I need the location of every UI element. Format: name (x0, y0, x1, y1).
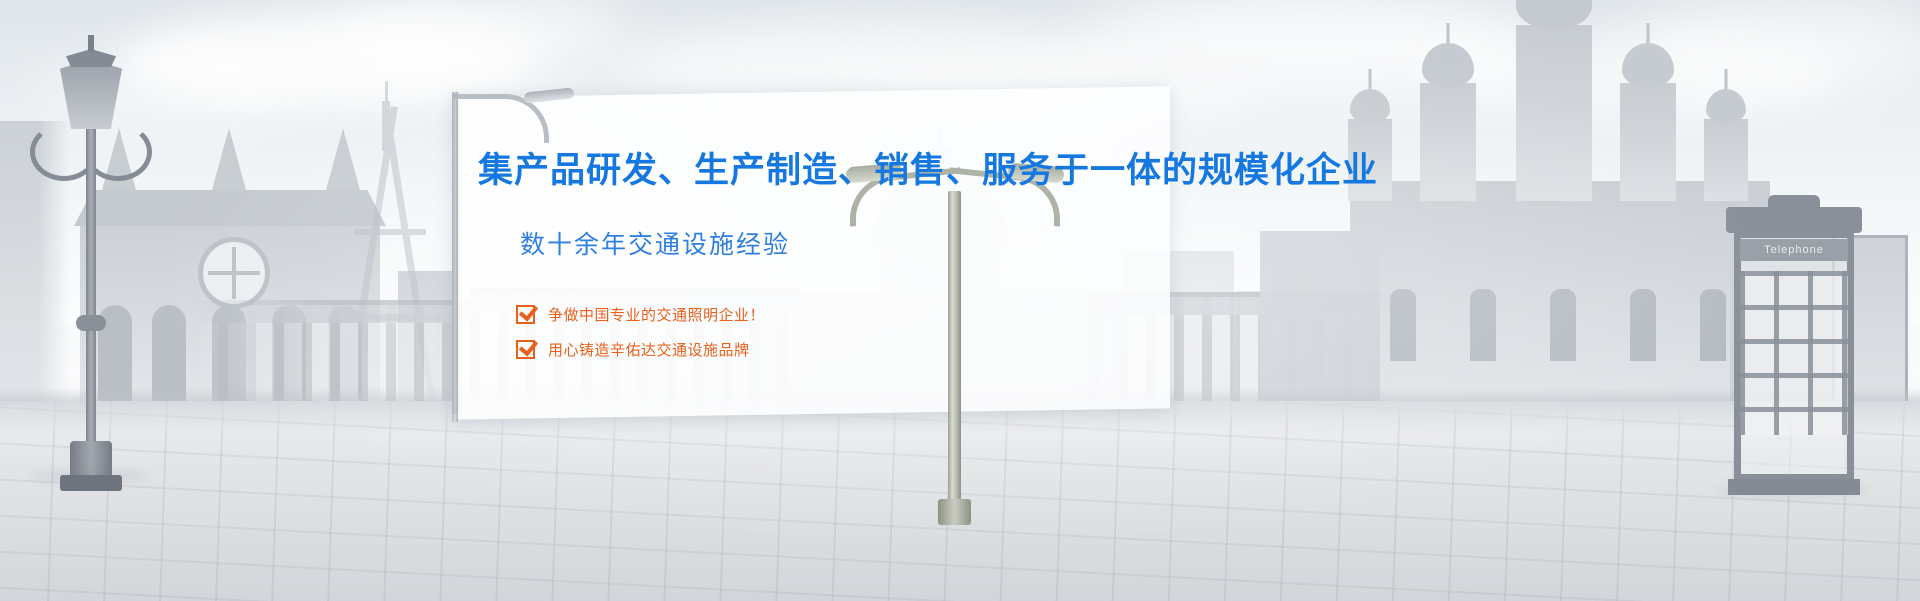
onion-dome (1706, 89, 1746, 123)
telephone-box-sign: Telephone (1740, 239, 1848, 261)
bullet-label: 用心铸造辛佑达交通设施品牌 (548, 339, 750, 360)
tower-deck (354, 229, 426, 235)
onion-dome (1622, 43, 1674, 87)
telephone-box-roof (1726, 207, 1862, 233)
rose-window-icon (198, 237, 270, 309)
banner-copy: 集产品研发、生产制造、销售、服务于一体的规模化企业 数十余年交通设施经验 争做中… (478, 150, 1178, 374)
banner-headline: 集产品研发、生产制造、销售、服务于一体的规模化企业 (478, 150, 1178, 192)
tower-top (382, 101, 390, 151)
lamp-head (60, 59, 122, 129)
orthodox-church (1320, 21, 1790, 401)
bullet-label: 争做中国专业的交通照明企业！ (548, 304, 765, 325)
onion-dome (1422, 43, 1474, 87)
hero-banner: Telephone 集产品 (0, 0, 1920, 601)
tower-tip (385, 81, 388, 107)
cathedral-spire (212, 128, 246, 190)
telephone-box-shadow (1716, 485, 1866, 495)
telephone-box-panes (1740, 271, 1848, 435)
checkbox-checked-icon (516, 305, 535, 324)
church-tower (1704, 119, 1748, 201)
street-light-foot (938, 499, 971, 525)
church-window (1390, 289, 1416, 361)
lamp-post (86, 121, 96, 481)
church-tower (1420, 83, 1476, 201)
church-window (1470, 289, 1496, 361)
telephone-box: Telephone (1734, 231, 1854, 481)
banner-subtitle: 数十余年交通设施经验 (520, 230, 1178, 260)
banner-bullet-list: 争做中国专业的交通照明企业！ 用心铸造辛佑达交通设施品牌 (516, 304, 1178, 360)
telephone-box-crown (1768, 195, 1820, 209)
list-item: 争做中国专业的交通照明企业！ (516, 304, 1178, 325)
colonnade (190, 300, 490, 401)
church-window (1550, 289, 1576, 361)
lamp-finial (88, 35, 94, 51)
lamp-cap (66, 49, 116, 67)
church-tower (1620, 83, 1676, 201)
lamp-knob (76, 315, 106, 331)
list-item: 用心铸造辛佑达交通设施品牌 (516, 339, 1178, 360)
lamp-scroll-ornament (84, 123, 152, 181)
checkbox-checked-icon (516, 340, 535, 359)
church-wing (1260, 231, 1380, 401)
content-panel-left-edge (452, 92, 460, 414)
classic-street-lamp (36, 41, 146, 481)
church-main-tower (1516, 25, 1592, 201)
church-window (1700, 289, 1726, 361)
onion-dome (1350, 89, 1390, 123)
church-window (1630, 289, 1656, 361)
lamp-shadow (30, 471, 150, 481)
